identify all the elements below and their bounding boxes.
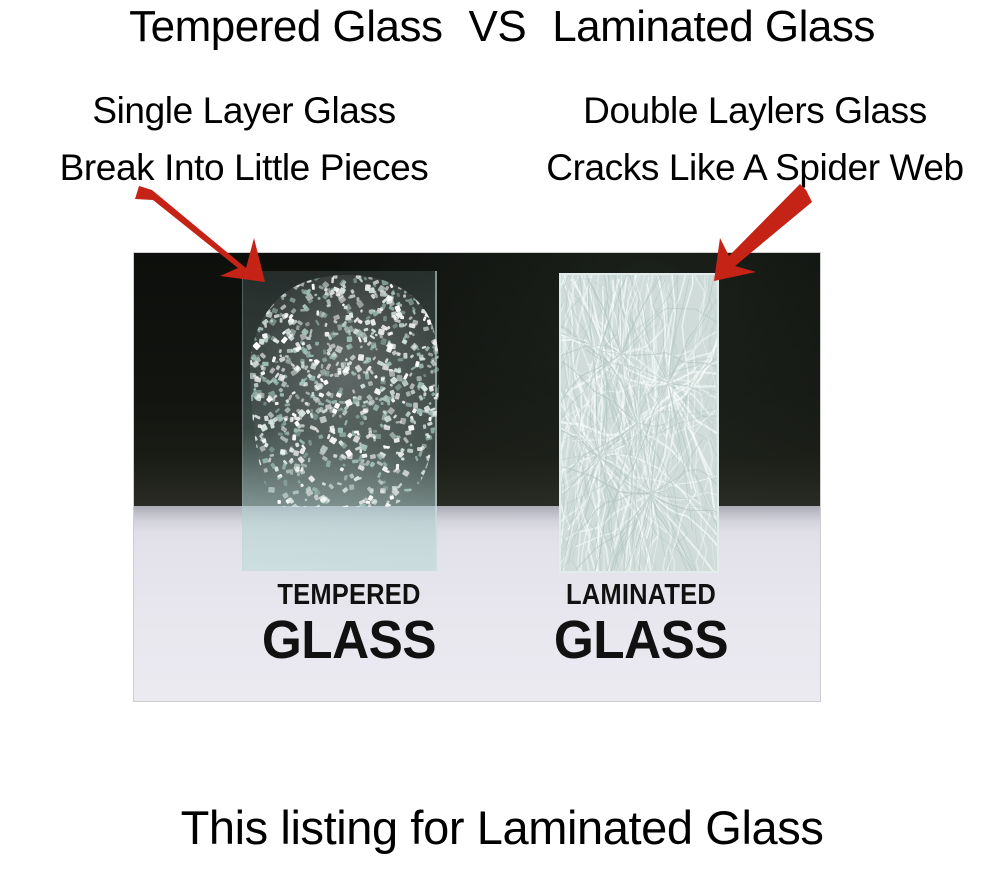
- photo-label-tempered: TEMPERED GLASS: [224, 581, 474, 667]
- headline-right-term: Laminated Glass: [552, 5, 875, 49]
- right-description-block: Double Laylers Glass Cracks Like A Spide…: [505, 82, 1004, 197]
- laminated-cracks-graphic: [561, 275, 717, 571]
- photo-label-laminated: LAMINATED GLASS: [516, 581, 766, 667]
- photo-label-laminated-small: LAMINATED: [531, 581, 751, 610]
- headline-separator: VS: [468, 5, 526, 49]
- headline: Tempered Glass VS Laminated Glass: [0, 0, 1004, 56]
- headline-left-term: Tempered Glass: [129, 5, 442, 49]
- comparison-photo: TEMPERED GLASS LAMINATED GLASS: [133, 252, 821, 702]
- footer-caption: This listing for Laminated Glass: [0, 800, 1004, 855]
- right-description-line-1: Double Laylers Glass: [505, 82, 1004, 139]
- tempered-glass-pane: [242, 271, 434, 571]
- left-description-line-1: Single Layer Glass: [0, 82, 494, 139]
- tempered-fragments-graphic: [236, 265, 446, 515]
- photo-label-laminated-big: GLASS: [522, 613, 760, 667]
- left-description-line-2: Break Into Little Pieces: [0, 139, 494, 196]
- photo-label-tempered-small: TEMPERED: [239, 581, 459, 610]
- photo-label-tempered-big: GLASS: [230, 613, 468, 667]
- left-description-block: Single Layer Glass Break Into Little Pie…: [0, 82, 494, 197]
- laminated-glass-pane: [559, 273, 719, 573]
- right-description-line-2: Cracks Like A Spider Web: [505, 139, 1004, 196]
